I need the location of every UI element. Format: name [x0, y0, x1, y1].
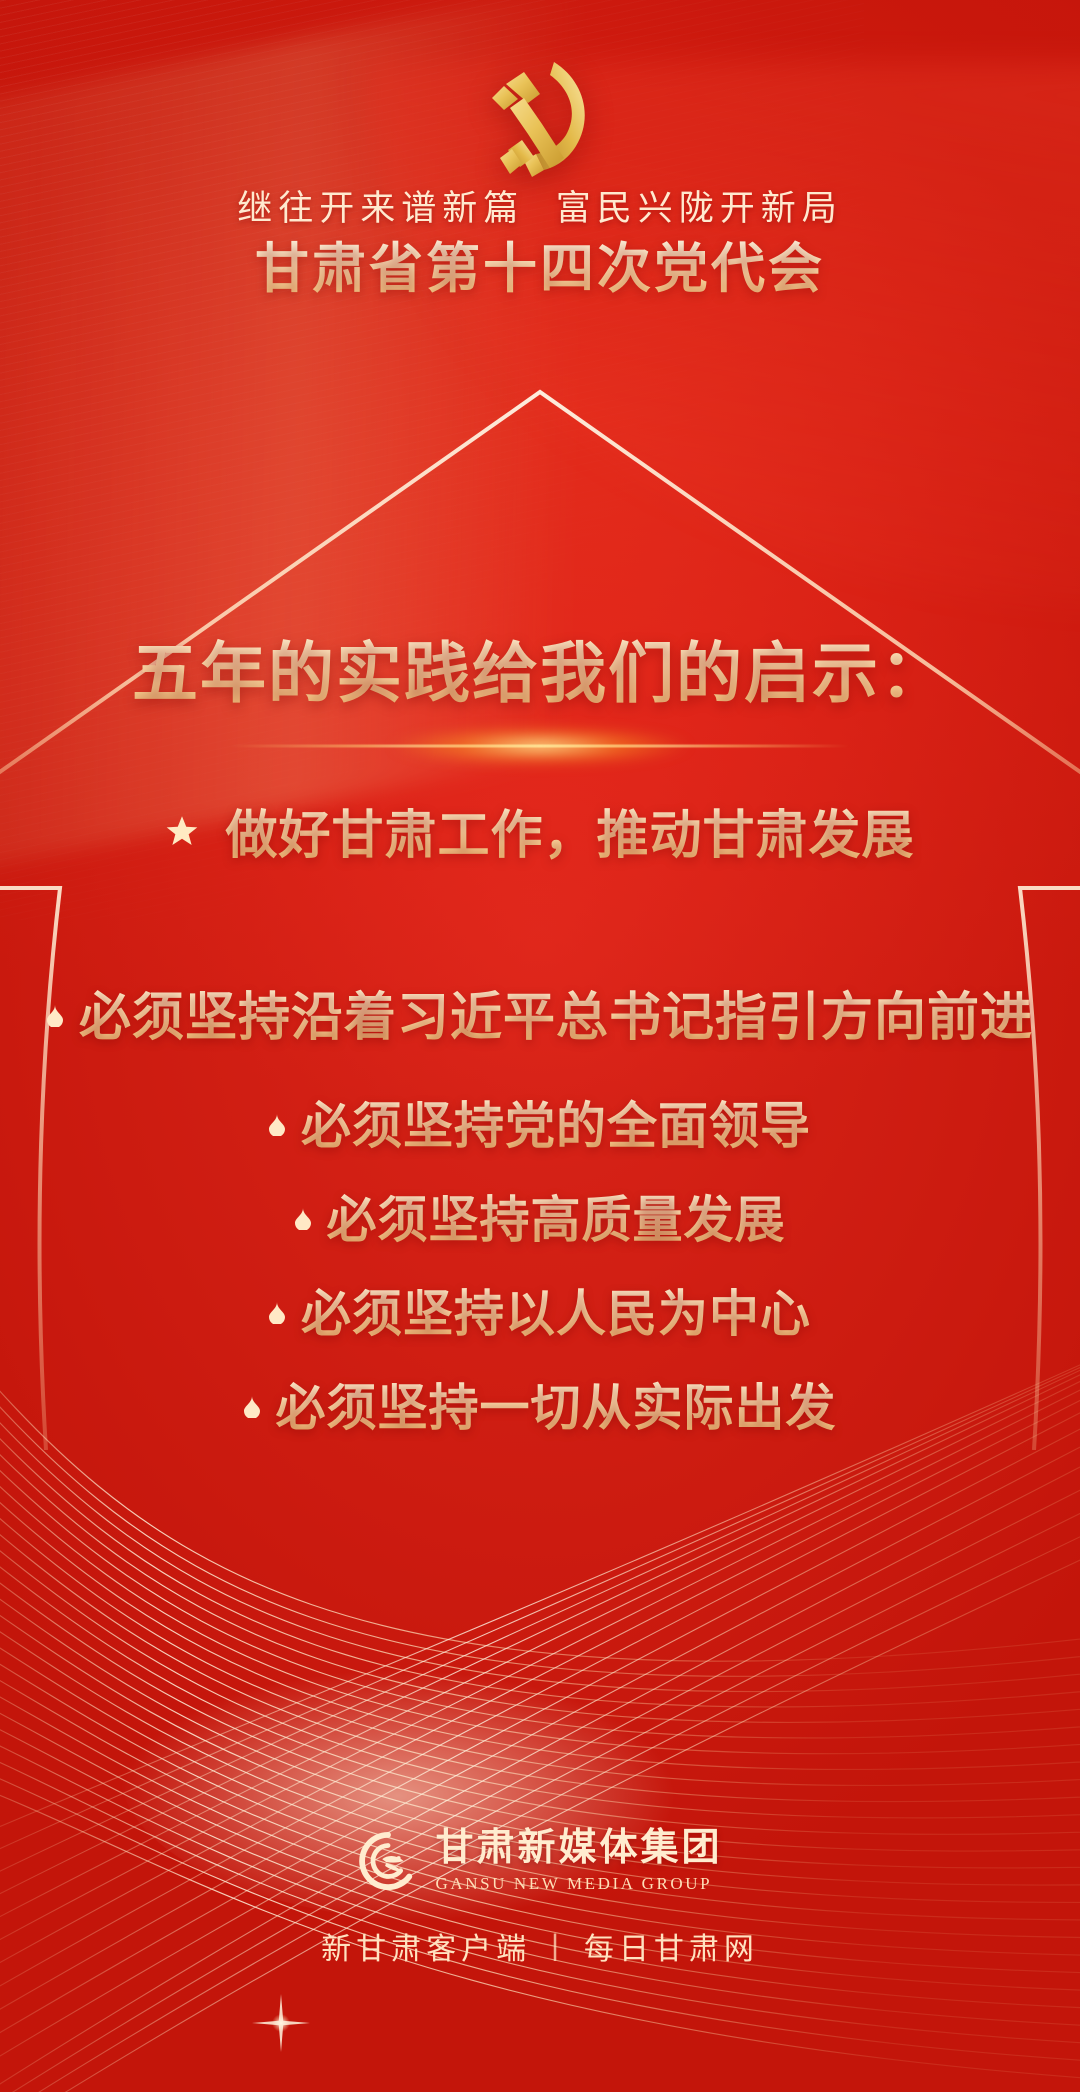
sparkle-icon	[246, 1988, 316, 2058]
list-item-label: 必须坚持一切从实际出发	[276, 1368, 837, 1440]
header-block: 继往开来谱新篇 富民兴陇开新局 甘肃省第十四次党代会	[0, 188, 1080, 300]
bullet-list: 必须坚持沿着习近平总书记指引方向前进 必须坚持党的全面领导 必须坚持高质量发展 …	[0, 975, 1080, 1462]
glow-divider	[210, 723, 870, 769]
list-item-label: 必须坚持以人民为中心	[301, 1274, 811, 1346]
brand-lockup: 甘肃新媒体集团 GANSU NEW MEDIA GROUP	[0, 1828, 1080, 1894]
list-item-label: 必须坚持党的全面领导	[301, 1086, 811, 1158]
drop-bullet-icon	[244, 1396, 260, 1418]
header-subtitle: 继往开来谱新篇 富民兴陇开新局	[0, 188, 1080, 230]
drop-bullet-icon	[269, 1114, 285, 1136]
brand-names: 甘肃新媒体集团 GANSU NEW MEDIA GROUP	[435, 1828, 722, 1894]
footer-link-app[interactable]: 新甘肃客户端	[321, 1924, 531, 1968]
gansu-new-media-group-logo-icon	[357, 1830, 419, 1892]
list-item-label: 必须坚持沿着习近平总书记指引方向前进	[79, 975, 1033, 1050]
brand-name-en: GANSU NEW MEDIA GROUP	[435, 1874, 722, 1894]
list-item: 必须坚持以人民为中心	[0, 1274, 1080, 1346]
star-highlight-row: 做好甘肃工作，推动甘肃发展	[0, 793, 1080, 868]
list-item: 必须坚持沿着习近平总书记指引方向前进	[0, 975, 1080, 1050]
header-title: 甘肃省第十四次党代会	[0, 238, 1080, 300]
drop-bullet-icon	[47, 1005, 63, 1027]
star-highlight-text: 做好甘肃工作，推动甘肃发展	[225, 793, 914, 868]
drop-bullet-icon	[269, 1302, 285, 1324]
star-icon	[165, 814, 199, 848]
brand-name-cn: 甘肃新媒体集团	[435, 1828, 722, 1870]
party-emblem-container	[0, 50, 1080, 190]
list-item: 必须坚持一切从实际出发	[0, 1368, 1080, 1440]
party-emblem-hammer-sickle-icon	[470, 54, 610, 186]
footer-links: 新甘肃客户端 | 每日甘肃网	[0, 1924, 1080, 1968]
main-heading: 五年的实践给我们的启示：	[0, 620, 1080, 716]
footer-block: 甘肃新媒体集团 GANSU NEW MEDIA GROUP 新甘肃客户端 | 每…	[0, 1828, 1080, 1968]
poster-canvas: 继往开来谱新篇 富民兴陇开新局 甘肃省第十四次党代会 五年的实践给我们的启示： …	[0, 0, 1080, 2092]
footer-link-web[interactable]: 每日甘肃网	[584, 1924, 759, 1968]
list-item: 必须坚持高质量发展	[0, 1180, 1080, 1252]
glow-soft-halo	[390, 726, 690, 766]
list-item: 必须坚持党的全面领导	[0, 1086, 1080, 1158]
drop-bullet-icon	[295, 1208, 311, 1230]
list-item-label: 必须坚持高质量发展	[327, 1180, 786, 1252]
footer-link-separator: |	[551, 1929, 564, 1963]
